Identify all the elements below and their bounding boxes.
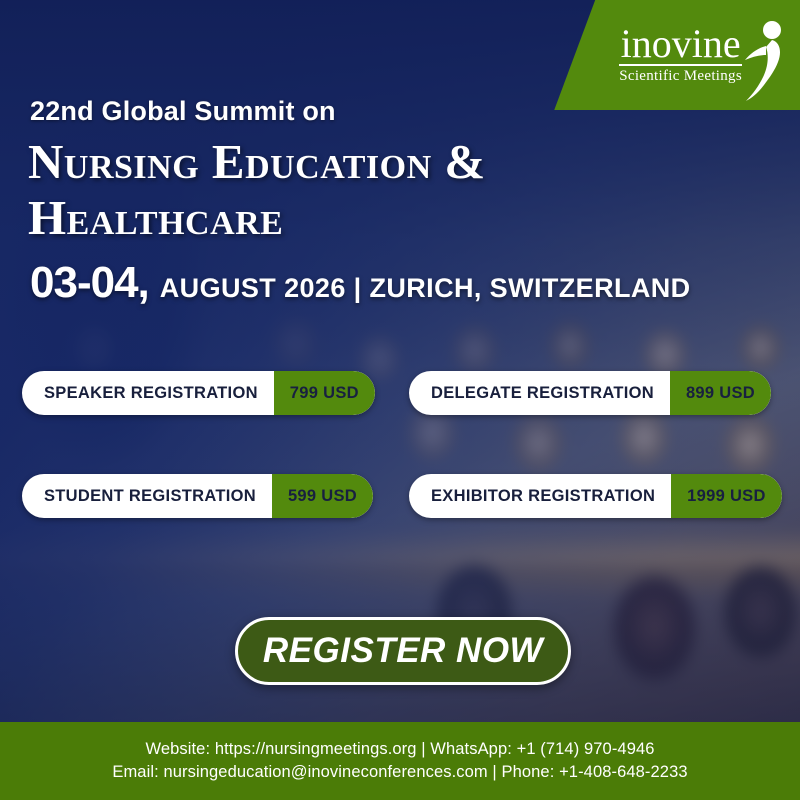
page-title: Nursing Education & Healthcare bbox=[28, 134, 648, 246]
footer-website-whatsapp[interactable]: Website: https://nursingmeetings.org | W… bbox=[145, 740, 654, 759]
footer-email-phone[interactable]: Email: nursingeducation@inovineconferenc… bbox=[112, 763, 687, 782]
registration-pill-delegate[interactable]: DELEGATE REGISTRATION 899 USD bbox=[409, 371, 771, 415]
event-kicker: 22nd Global Summit on bbox=[30, 96, 336, 127]
contact-footer: Website: https://nursingmeetings.org | W… bbox=[0, 722, 800, 800]
registration-amount: 599 USD bbox=[272, 474, 373, 518]
registration-label: STUDENT REGISTRATION bbox=[22, 474, 272, 518]
event-days: 03-04, bbox=[30, 258, 149, 308]
title-line-1: Nursing Education & bbox=[28, 134, 486, 189]
registration-label: DELEGATE REGISTRATION bbox=[409, 371, 670, 415]
title-line-2: Healthcare bbox=[28, 190, 648, 246]
registration-pill-speaker[interactable]: SPEAKER REGISTRATION 799 USD bbox=[22, 371, 375, 415]
register-now-label: REGISTER NOW bbox=[263, 631, 543, 671]
conference-poster: inovine Scientific Meetings 22nd Global … bbox=[0, 0, 800, 800]
registration-label: EXHIBITOR REGISTRATION bbox=[409, 474, 671, 518]
event-date-location: 03-04, AUGUST 2026 | ZURICH, SWITZERLAND bbox=[30, 258, 691, 308]
registration-amount: 1999 USD bbox=[671, 474, 782, 518]
event-month-venue: AUGUST 2026 | ZURICH, SWITZERLAND bbox=[160, 273, 691, 304]
registration-pill-exhibitor[interactable]: EXHIBITOR REGISTRATION 1999 USD bbox=[409, 474, 782, 518]
registration-amount: 799 USD bbox=[274, 371, 375, 415]
register-now-button[interactable]: REGISTER NOW bbox=[235, 617, 571, 685]
registration-amount: 899 USD bbox=[670, 371, 771, 415]
registration-label: SPEAKER REGISTRATION bbox=[22, 371, 274, 415]
registration-pill-student[interactable]: STUDENT REGISTRATION 599 USD bbox=[22, 474, 373, 518]
